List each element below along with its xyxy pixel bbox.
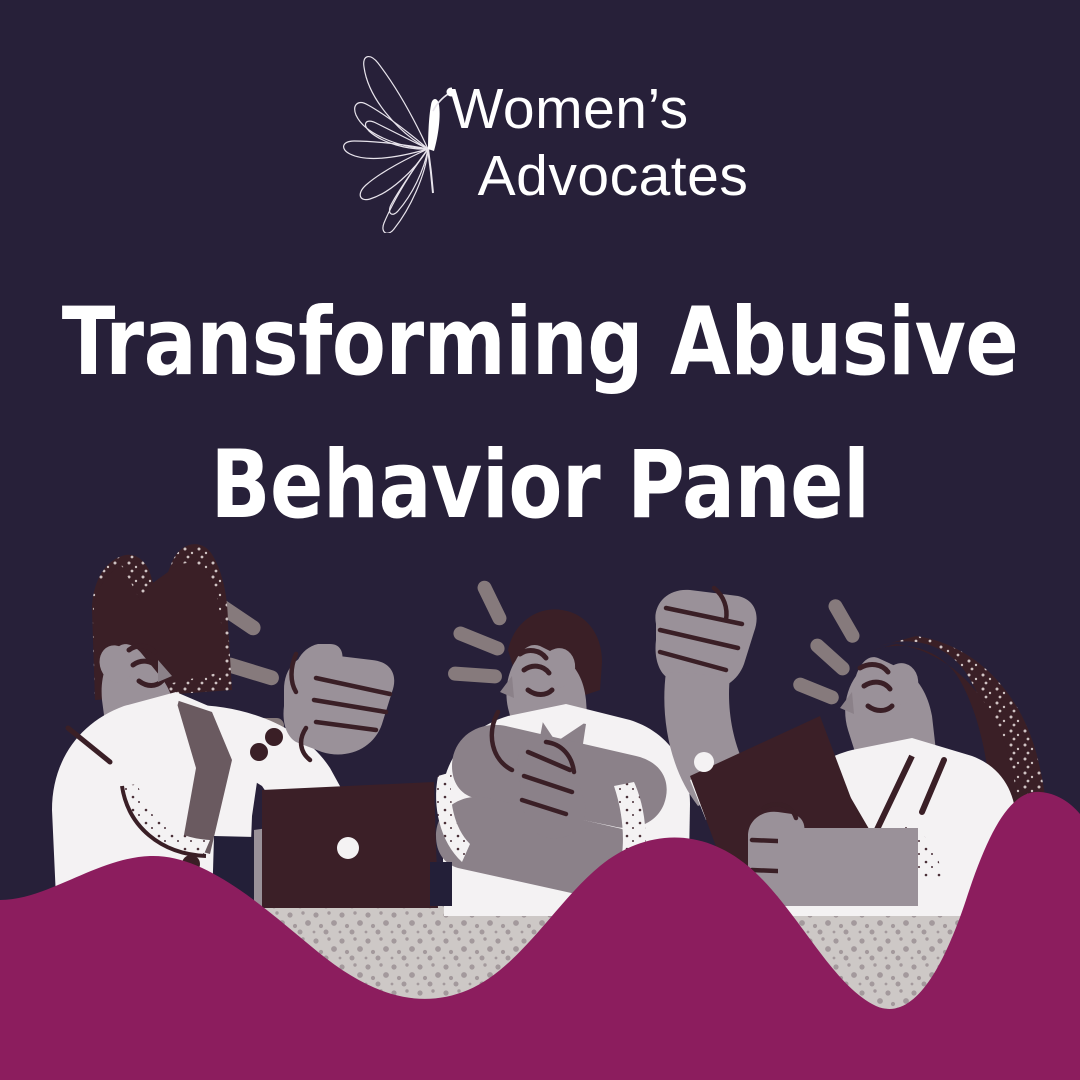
brand-line-2: Advocates — [448, 148, 749, 205]
emphasis-marks-center — [448, 578, 509, 684]
brand-logo: Women’s Advocates — [0, 48, 1080, 238]
page-title: Transforming Abusive Behavior Panel — [0, 272, 1080, 558]
laptop-left — [262, 782, 438, 908]
page-title-line-2: Behavior Panel — [38, 415, 1042, 558]
page-title-line-1: Transforming Abusive — [38, 272, 1042, 415]
poster-canvas: Women’s Advocates Transforming Abusive B… — [0, 0, 1080, 1080]
laptop-right — [778, 828, 918, 906]
brand-wordmark: Women’s Advocates — [448, 81, 749, 205]
brand-line-1: Women’s — [448, 81, 689, 138]
butterfly-fairy-logo-icon — [332, 53, 452, 233]
raised-hand-left — [284, 644, 395, 760]
